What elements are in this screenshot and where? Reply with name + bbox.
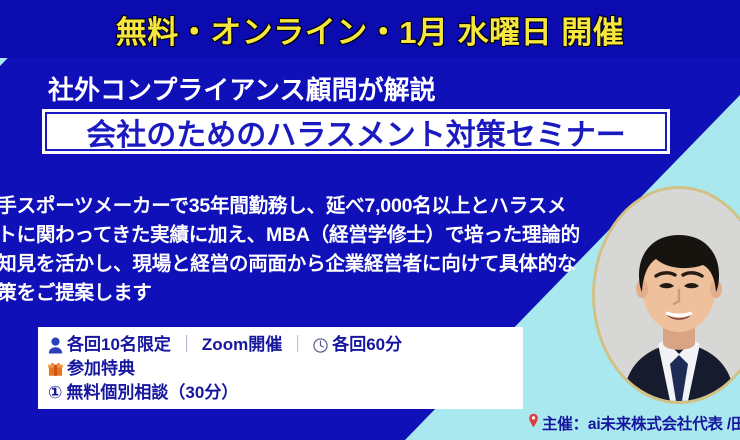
clock-icon xyxy=(313,338,328,353)
subtitle: 社外コンプライアンス顧問が解説 xyxy=(48,70,436,107)
platform-text: Zoom開催 xyxy=(202,333,282,357)
main-title-box: 会社のためのハラスメント対策セミナー xyxy=(42,109,670,154)
separator-2: ｜ xyxy=(289,333,306,357)
benefit-label: 参加特典 xyxy=(67,357,135,381)
info-row-details: 各回10名限定 ｜ Zoom開催 ｜ 各回60分 xyxy=(48,333,523,357)
capacity-text: 各回10名限定 xyxy=(67,333,171,357)
map-pin-icon xyxy=(528,413,539,433)
info-card: 各回10名限定 ｜ Zoom開催 ｜ 各回60分 xyxy=(38,327,523,409)
organizer-text: 主催：ai未来株式会社代表 /田渕 xyxy=(542,412,740,434)
seminar-banner: 無料・オンライン・1月 水曜日 開催 社外コンプライアンス顧問が解説 会社のため… xyxy=(0,0,740,440)
body-line-2: ントに関わってきた実績に加え、MBA（経営学修士）で培った理論的 xyxy=(0,221,598,250)
separator-1: ｜ xyxy=(178,333,195,357)
benefit-item-text: 無料個別相談（30分） xyxy=(66,381,238,405)
body-paragraph: 大手スポーツメーカーで35年間勤務し、延べ7,000名以上とハラスメ ントに関わ… xyxy=(0,192,598,308)
body-line-4: 対策をご提案します xyxy=(0,279,598,308)
info-row-benefit-item: ① 無料個別相談（30分） xyxy=(48,381,523,405)
organizer-line: 主催：ai未来株式会社代表 /田渕 xyxy=(528,412,740,434)
body-line-3: な知見を活かし、現場と経営の両面から企業経営者に向けて具体的な xyxy=(0,250,598,279)
top-headline: 無料・オンライン・1月 水曜日 開催 xyxy=(0,0,740,58)
gift-icon xyxy=(48,361,63,377)
person-icon xyxy=(48,337,63,354)
duration-text: 各回60分 xyxy=(332,333,402,357)
page-title: 会社のためのハラスメント対策セミナー xyxy=(86,110,625,154)
info-row-benefit-label: 参加特典 xyxy=(48,357,523,381)
body-line-1: 大手スポーツメーカーで35年間勤務し、延べ7,000名以上とハラスメ xyxy=(0,192,598,221)
number-one-icon: ① xyxy=(48,381,62,405)
